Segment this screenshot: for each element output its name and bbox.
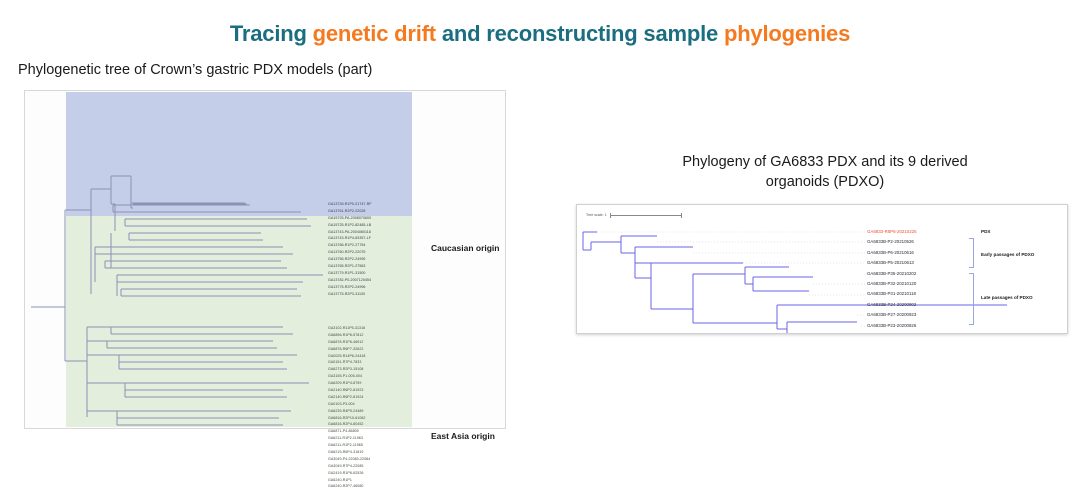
group-label-early-passages: Early passages of PDXO	[981, 252, 1034, 257]
tip-label: GA2140-R6P2-81924	[328, 394, 424, 401]
tip-label: GA13766-R1P2-27754	[328, 242, 424, 249]
tip-label-pdx: GA6833-R5P6-20210225	[867, 227, 967, 237]
left-tree-branches	[25, 91, 505, 428]
tip-label: GA13775-R2P3-31100	[328, 291, 424, 298]
page-title: Tracing genetic drift and reconstructing…	[0, 21, 1080, 47]
tip-label: GA6896-R1P6-57812	[328, 332, 424, 339]
right-caption-line-2: organoids (PDXO)	[766, 174, 884, 190]
tip-label: GA6833B-P5-20210613	[867, 258, 967, 268]
east-asia-tip-label-list: GA3102-R11P5-31316 GA6896-R1P6-57812 GA6…	[328, 325, 424, 490]
title-segment-3: and reconstructing sample	[436, 21, 724, 46]
clade-label-caucasian-origin: Caucasian origin	[431, 243, 500, 253]
tip-label: GA13743-R1P4-83357-LF	[328, 235, 424, 242]
tip-label: GA15725-PA-2008070600	[328, 215, 424, 222]
left-figure-panel: Phylogenetic tree of Crown’s gastric PDX…	[14, 62, 514, 452]
tip-label: GA6833B-P2-20210526	[867, 237, 967, 247]
tip-label: GA3155-P1-005-004	[328, 373, 424, 380]
tip-label: GA6240-R2P7-46080	[328, 483, 424, 490]
tip-label: GA6833B-P32-20210120	[867, 279, 967, 289]
title-segment-1: Tracing	[230, 21, 313, 46]
tip-label: GA6816-R2P4-80452	[328, 421, 424, 428]
tip-label: GA0103-P3-004	[328, 401, 424, 408]
tip-label: GA6833B-P27-20200923	[867, 310, 967, 320]
title-segment-4: phylogenies	[724, 21, 850, 46]
tip-label: GA13761-R2P2-22028	[328, 208, 424, 215]
tip-label: GA6871-P4-86805	[328, 428, 424, 435]
right-figure-caption: Phylogeny of GA6833 PDX and its 9 derive…	[605, 152, 1045, 192]
title-segment-2: genetic drift	[313, 21, 436, 46]
tip-label: GA6833B-P24-20200902	[867, 300, 967, 310]
tip-label: GA6211-R1P2-11965	[328, 442, 424, 449]
tip-label: GA13775-R2P2-24996	[328, 284, 424, 291]
clade-label-east-asia-origin: East Asia origin	[431, 431, 495, 441]
tip-label: GA6211-R1P2-11963	[328, 435, 424, 442]
tip-label: GA13782-P0-2007120454	[328, 277, 424, 284]
caucasian-tip-label-list: GA13739-R1P0-21747-RF GA13761-R2P2-22028…	[328, 201, 424, 297]
tip-label: GA13743-PA-2004080118	[328, 229, 424, 236]
tip-label: GA13739-R1P0-21747-RF	[328, 201, 424, 208]
tip-label: GA6833B-P31-20210118	[867, 289, 967, 299]
right-figure-panel: Phylogeny of GA6833 PDX and its 9 derive…	[575, 152, 1075, 382]
tip-label: GA6833B-P23-20200826	[867, 321, 967, 331]
tip-label: GA15725-R1P2-82485-LB	[328, 222, 424, 229]
group-label-pdx: PDX	[981, 229, 990, 234]
tip-label: GA0025-R14P6-24418	[328, 353, 424, 360]
tip-label: GA6833B-P6-20210616	[867, 248, 967, 258]
group-bracket-early-passages	[969, 238, 974, 268]
tip-label: GA13765-R2P1-27563	[328, 263, 424, 270]
tip-label: GA2419-R1P6-62526	[328, 470, 424, 477]
tip-label: GA6833B-P35-20210202	[867, 269, 967, 279]
tip-label: GA13779-R1P1-31500	[328, 270, 424, 277]
left-figure-caption: Phylogenetic tree of Crown’s gastric PDX…	[18, 62, 514, 78]
tip-label: GA13756-R2P2-24995	[328, 256, 424, 263]
tip-label: GA3102-R11P5-31316	[328, 325, 424, 332]
tip-label: GA6215-R6P4-31819	[328, 449, 424, 456]
right-caption-line-1: Phylogeny of GA6833 PDX and its 9 derive…	[682, 154, 967, 170]
tip-label: GA13760-R2P2-22075	[328, 249, 424, 256]
tip-label: GA6878-R1P6-46912	[328, 339, 424, 346]
tip-label: GA6273-R2P3-15108	[328, 366, 424, 373]
pdxo-tip-label-list: GA6833-R5P6-20210225 GA6833B-P2-20210526…	[867, 227, 967, 331]
tip-label: GA2140-R6P2-81923	[328, 387, 424, 394]
tip-label: GA0151-R7P4-7833	[328, 359, 424, 366]
gastric-pdx-phylogenetic-tree: GA13739-R1P0-21747-RF GA13761-R2P2-22028…	[24, 90, 506, 429]
tip-label: GA3049-R7P4-22085	[328, 463, 424, 470]
group-label-late-passages: Late passages of PDXO	[981, 295, 1033, 300]
tip-label: GA6878-R6P7-32622	[328, 346, 424, 353]
tip-label: GA6816-R2P10-61062	[328, 415, 424, 422]
tip-label: GA6240-R1P1	[328, 477, 424, 484]
right-tree-branches	[577, 205, 1067, 333]
ga6833-pdxo-phylogenetic-tree: Tree scale: 1	[576, 204, 1068, 334]
tip-label: GA6239-R4P5-24489	[328, 408, 424, 415]
tip-label: GA3049-P4-22083-22084	[328, 456, 424, 463]
group-bracket-late-passages	[969, 273, 974, 325]
tip-label: GA6209-R1P4-8759	[328, 380, 424, 387]
